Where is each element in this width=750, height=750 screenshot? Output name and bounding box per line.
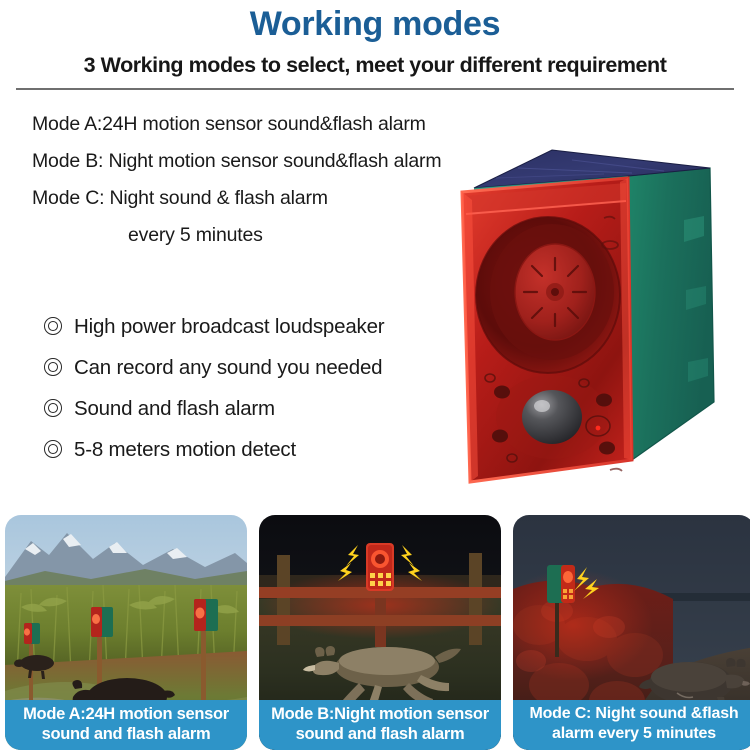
mode-panel-c[interactable]: Mode C: Night sound &flash alarm every 5… <box>513 515 750 750</box>
mode-panel-b[interactable]: Mode B:Night motion sensor sound and fla… <box>259 515 501 750</box>
double-circle-icon <box>44 440 63 459</box>
caption-line-1: Mode A:24H motion sensor <box>5 704 247 724</box>
feature-label: High power broadcast loudspeaker <box>74 306 384 347</box>
horn-speaker <box>476 217 620 373</box>
caption-line-2: sound and flash alarm <box>259 724 501 744</box>
mode-panel-a-caption: Mode A:24H motion sensor sound and flash… <box>5 700 247 750</box>
feature-label: 5-8 meters motion detect <box>74 429 296 470</box>
mode-panels: Mode A:24H motion sensor sound and flash… <box>0 515 750 750</box>
caption-line-2: alarm every 5 minutes <box>513 724 750 744</box>
green-housing <box>628 168 714 460</box>
double-circle-icon <box>44 317 63 336</box>
feature-item: 5-8 meters motion detect <box>44 429 514 470</box>
pir-sensor-dome <box>522 390 582 444</box>
caption-line-1: Mode B:Night motion sensor <box>259 704 501 724</box>
feature-item: Sound and flash alarm <box>44 388 514 429</box>
double-circle-icon <box>44 358 63 377</box>
header-divider <box>16 88 734 90</box>
feature-item: High power broadcast loudspeaker <box>44 306 514 347</box>
front-panel <box>462 178 632 482</box>
mode-panel-b-caption: Mode B:Night motion sensor sound and fla… <box>259 700 501 750</box>
product-image <box>452 140 742 492</box>
mode-panel-c-caption: Mode C: Night sound &flash alarm every 5… <box>513 700 750 750</box>
mode-line-a: Mode A:24H motion sensor sound&flash ala… <box>32 106 552 143</box>
caption-line-2: sound and flash alarm <box>5 724 247 744</box>
mounted-device-alarm <box>366 543 394 591</box>
mode-panel-a[interactable]: Mode A:24H motion sensor sound and flash… <box>5 515 247 750</box>
infographic-page: Working modes 3 Working modes to select,… <box>0 0 750 750</box>
feature-label: Sound and flash alarm <box>74 388 275 429</box>
double-circle-icon <box>44 399 63 418</box>
page-title: Working modes <box>0 4 750 44</box>
page-subtitle: 3 Working modes to select, meet your dif… <box>0 52 750 78</box>
feature-list: High power broadcast loudspeaker Can rec… <box>44 306 514 470</box>
caption-line-1: Mode C: Night sound &flash <box>513 704 750 724</box>
feature-item: Can record any sound you needed <box>44 347 514 388</box>
feature-label: Can record any sound you needed <box>74 347 382 388</box>
